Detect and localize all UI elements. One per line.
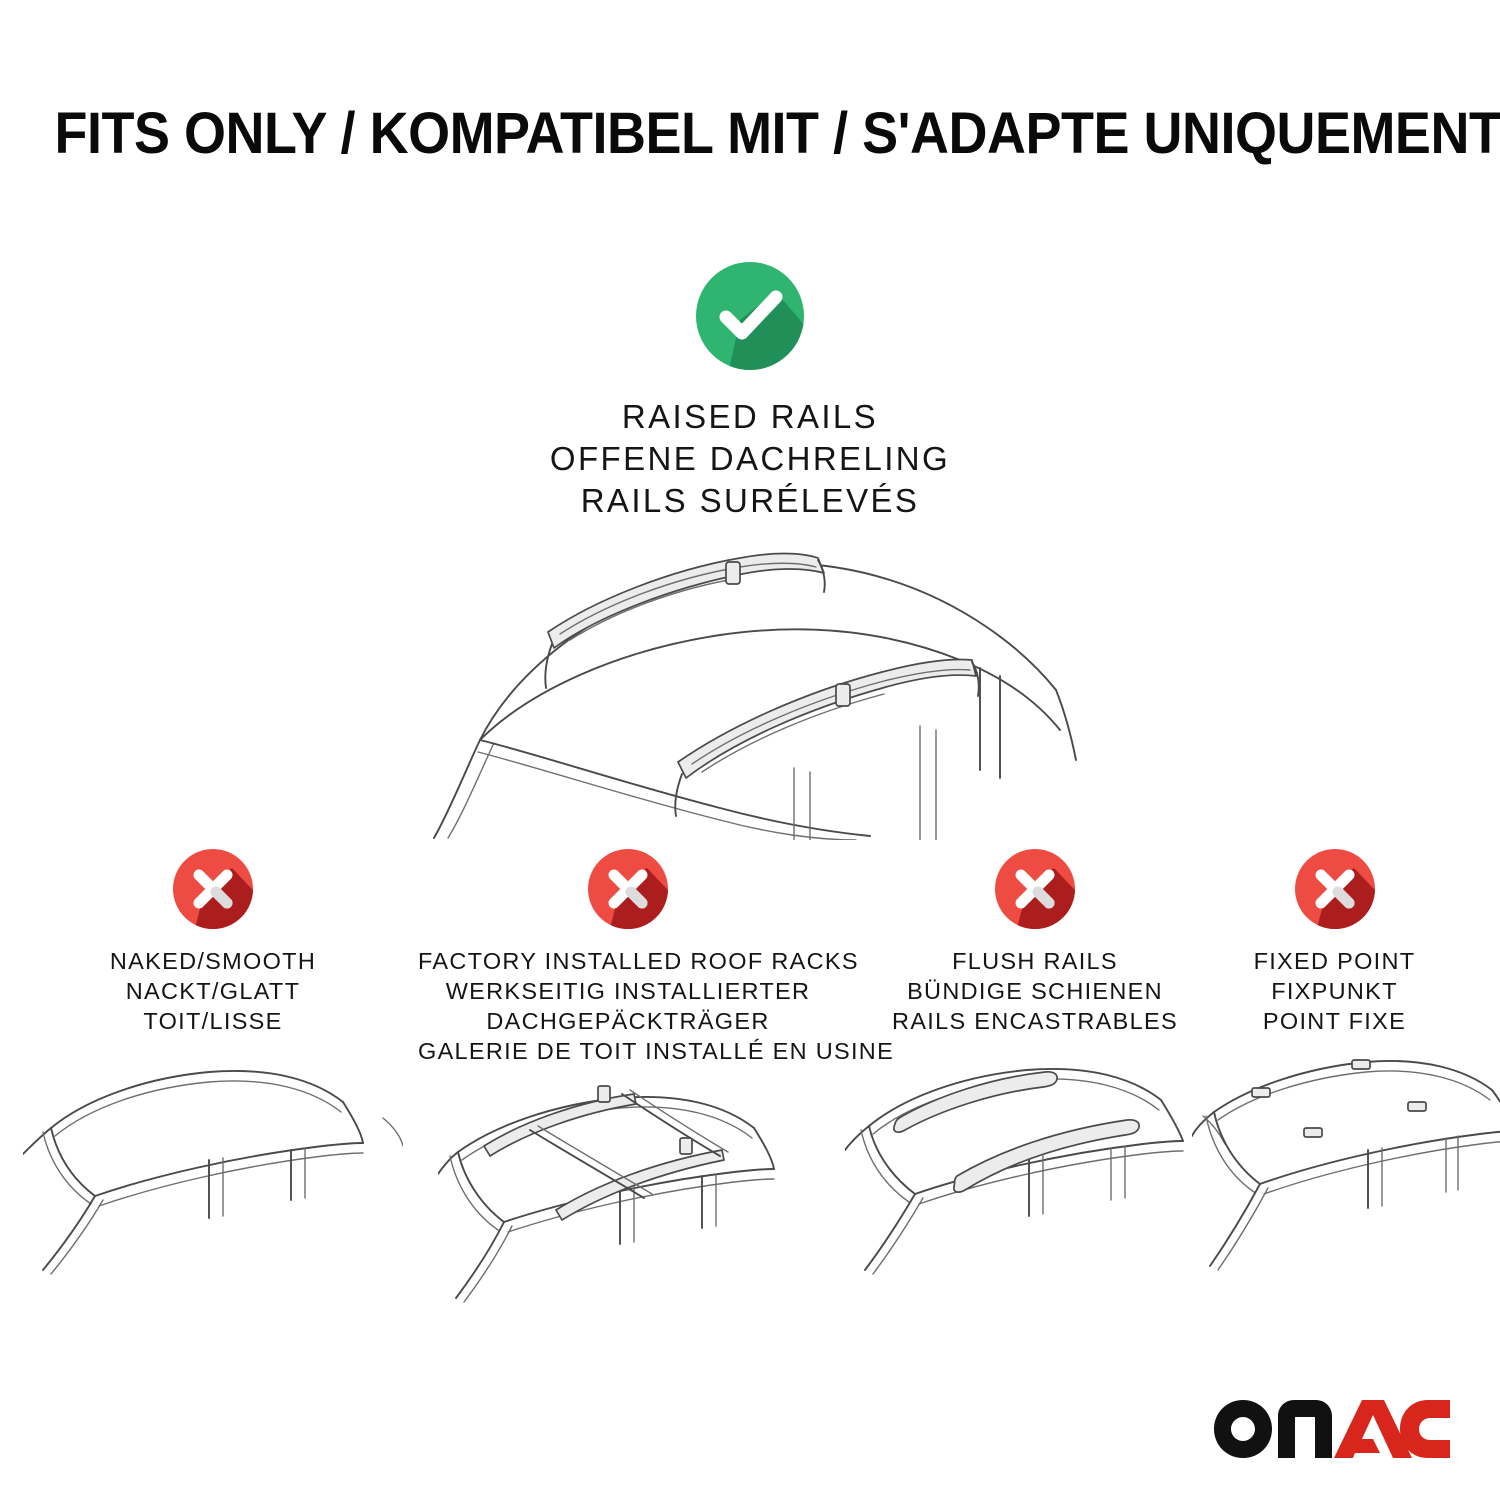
label-line-2: BÜNDIGE SCHIENEN xyxy=(845,976,1225,1006)
incompatible-item-fixed-point: FIXED POINT FIXPUNKT POINT FIXE xyxy=(1192,846,1477,1280)
incompatible-item-flush-rails: FLUSH RAILS BÜNDIGE SCHIENEN RAILS ENCAS… xyxy=(845,846,1225,1280)
car-roof-naked-smooth-illustration xyxy=(13,1050,413,1280)
label-line-1: NAKED/SMOOTH xyxy=(13,946,413,976)
compatible-label-fr: RAILS SURÉLEVÉS xyxy=(0,480,1500,522)
omac-logo xyxy=(1212,1398,1452,1460)
check-circle-icon xyxy=(692,258,808,374)
incompatible-item-naked-smooth: NAKED/SMOOTH NACKT/GLATT TOIT/LISSE xyxy=(13,846,413,1280)
incompatible-labels-factory-roof-racks: FACTORY INSTALLED ROOF RACKS WERKSEITIG … xyxy=(418,946,838,1066)
label-line-3: POINT FIXE xyxy=(1192,1006,1477,1036)
compatible-labels: RAISED RAILS OFFENE DACHRELING RAILS SUR… xyxy=(0,396,1500,522)
car-roof-factory-roof-racks-illustration xyxy=(418,1080,838,1310)
label-line-1: FLUSH RAILS xyxy=(845,946,1225,976)
label-line-2: NACKT/GLATT xyxy=(13,976,413,1006)
incompatible-item-factory-roof-racks: FACTORY INSTALLED ROOF RACKS WERKSEITIG … xyxy=(418,846,838,1310)
compatible-label-de: OFFENE DACHRELING xyxy=(0,438,1500,480)
label-line-3: TOIT/LISSE xyxy=(13,1006,413,1036)
label-line-3: DACHGEPÄCKTRÄGER xyxy=(418,1006,838,1036)
label-line-2: WERKSEITIG INSTALLIERTER xyxy=(418,976,838,1006)
label-line-1: FIXED POINT xyxy=(1192,946,1477,976)
label-line-2: FIXPUNKT xyxy=(1192,976,1477,1006)
label-line-1: FACTORY INSTALLED ROOF RACKS xyxy=(418,946,838,976)
cross-circle-icon xyxy=(1292,846,1378,932)
incompatible-labels-flush-rails: FLUSH RAILS BÜNDIGE SCHIENEN RAILS ENCAS… xyxy=(845,946,1225,1036)
car-roof-fixed-point-illustration xyxy=(1192,1050,1477,1280)
car-roof-with-raised-rails-illustration xyxy=(0,540,1500,830)
cross-circle-icon xyxy=(170,846,256,932)
cross-circle-icon xyxy=(992,846,1078,932)
page-title-bar: FITS ONLY / KOMPATIBEL MIT / S'ADAPTE UN… xyxy=(0,100,1500,167)
incompatible-labels-fixed-point: FIXED POINT FIXPUNKT POINT FIXE xyxy=(1192,946,1477,1036)
label-line-3: RAILS ENCASTRABLES xyxy=(845,1006,1225,1036)
incompatible-section: NAKED/SMOOTH NACKT/GLATT TOIT/LISSE xyxy=(0,846,1500,1346)
car-roof-flush-rails-illustration xyxy=(845,1050,1225,1280)
label-line-4: GALERIE DE TOIT INSTALLÉ EN USINE xyxy=(418,1036,838,1066)
incompatible-labels-naked-smooth: NAKED/SMOOTH NACKT/GLATT TOIT/LISSE xyxy=(13,946,413,1036)
compatible-label-en: RAISED RAILS xyxy=(0,396,1500,438)
compatible-section: RAISED RAILS OFFENE DACHRELING RAILS SUR… xyxy=(0,258,1500,830)
cross-circle-icon xyxy=(585,846,671,932)
page-title: FITS ONLY / KOMPATIBEL MIT / S'ADAPTE UN… xyxy=(54,100,1500,167)
